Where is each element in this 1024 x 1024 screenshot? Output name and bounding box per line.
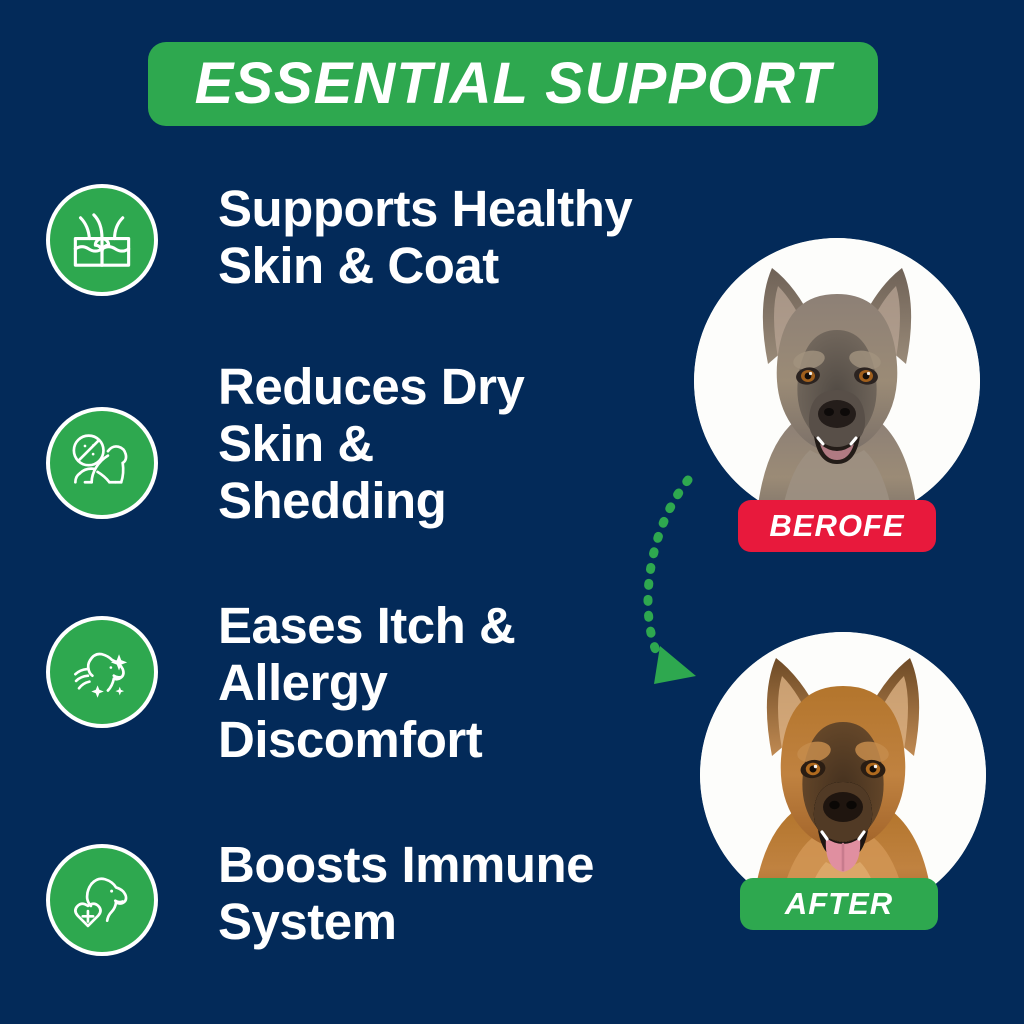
sparkling-dog-head-icon bbox=[46, 616, 158, 728]
before-badge: BEROFE bbox=[738, 500, 936, 552]
infographic-poster: ESSENTIAL SUPPORT Supports Healthy Skin … bbox=[0, 0, 1024, 1024]
benefit-label: Supports Healthy Skin & Coat bbox=[218, 180, 632, 294]
header-banner: ESSENTIAL SUPPORT bbox=[148, 42, 878, 126]
dog-heart-plus-icon bbox=[46, 844, 158, 956]
no-shedding-dog-icon bbox=[46, 407, 158, 519]
benefit-label: Boosts Immune System bbox=[218, 836, 594, 950]
german-shepherd-healthy-coat-photo bbox=[700, 632, 986, 918]
hair-follicle-skin-icon bbox=[46, 184, 158, 296]
benefit-label: Eases Itch & Allergy Discomfort bbox=[218, 597, 515, 768]
german-shepherd-dull-coat-photo bbox=[694, 238, 980, 524]
after-badge: AFTER bbox=[740, 878, 938, 930]
benefit-label: Reduces Dry Skin & Shedding bbox=[218, 358, 524, 529]
page-title: ESSENTIAL SUPPORT bbox=[195, 55, 832, 113]
